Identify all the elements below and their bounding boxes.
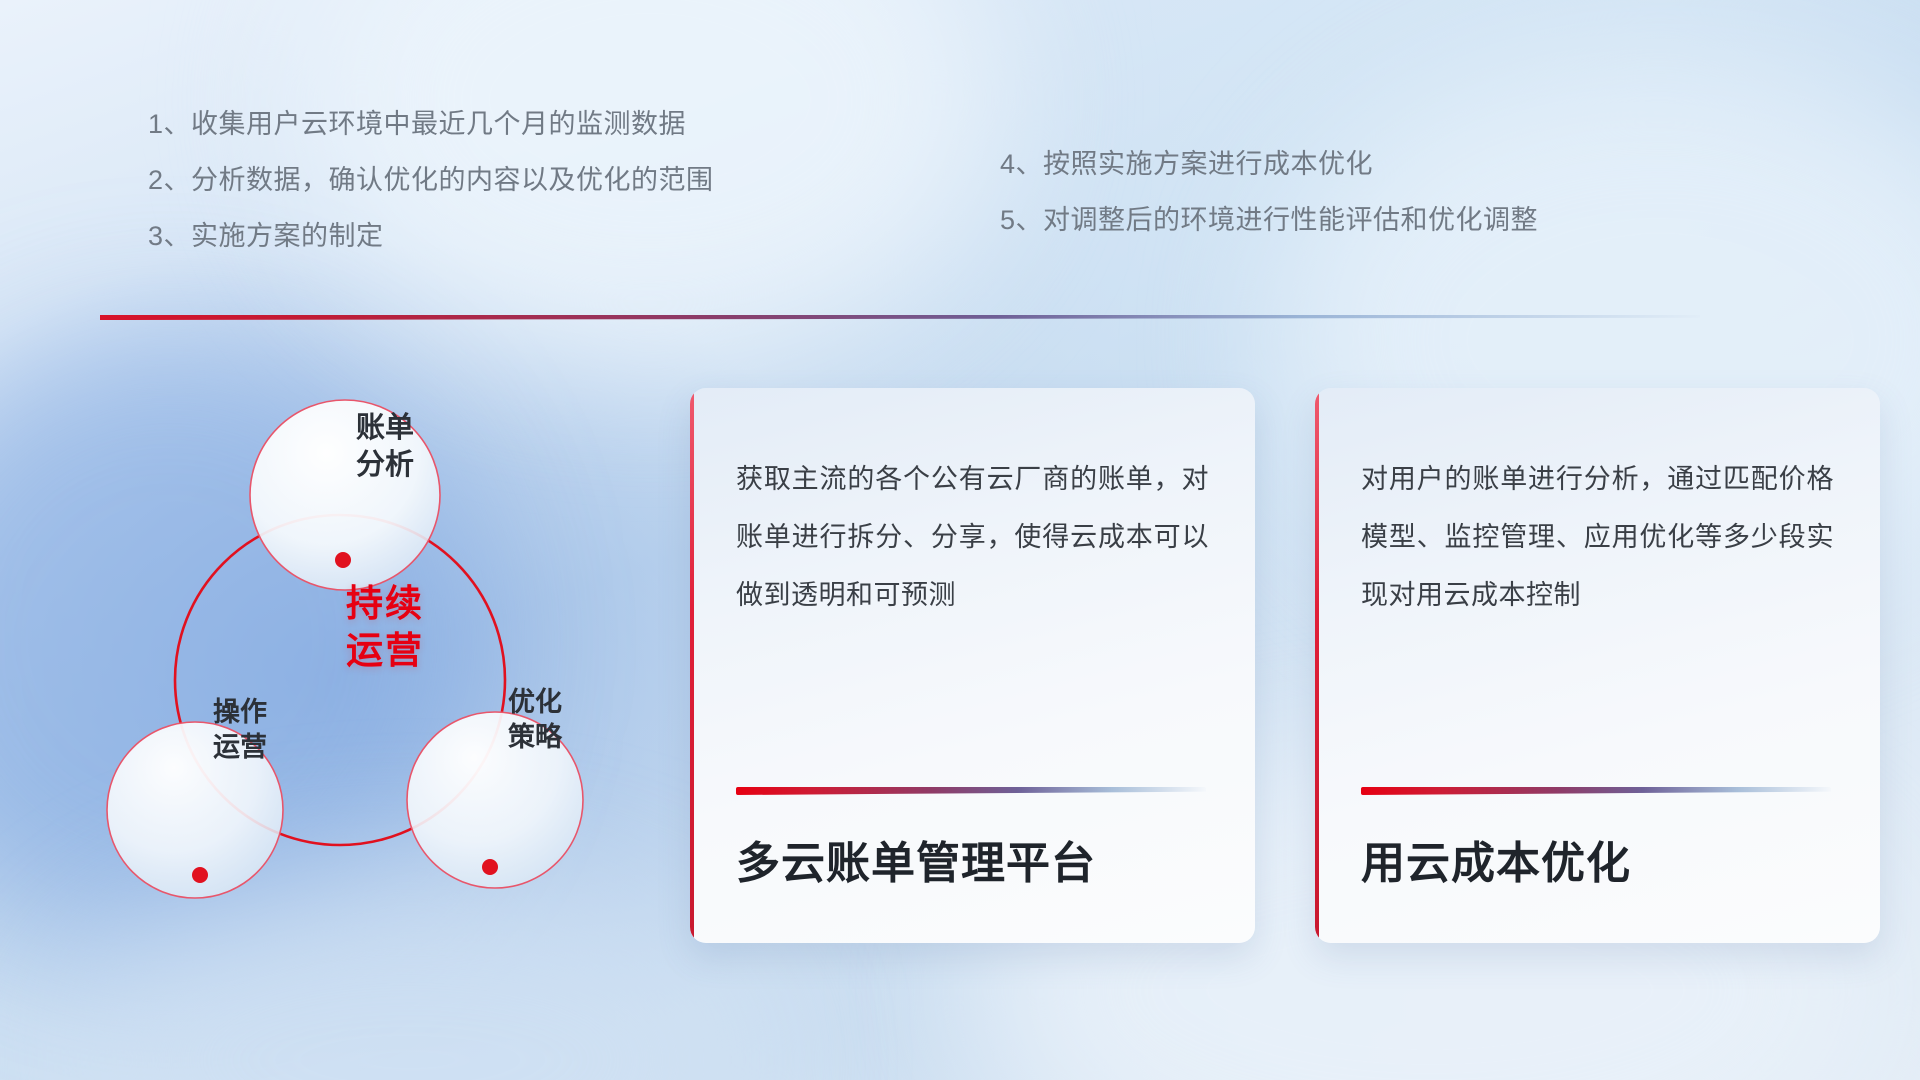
step-item-4: 4、按照实施方案进行成本优化: [1000, 136, 1538, 192]
venn-diagram: 账单 分析 操作 运营 优化 策略 持续 运营: [95, 355, 625, 955]
card-divider: [736, 787, 1206, 795]
card-body-text: 获取主流的各个公有云厂商的账单，对账单进行拆分、分享，使得云成本可以做到透明和可…: [736, 450, 1209, 624]
slide-canvas: 1、收集用户云环境中最近几个月的监测数据 2、分析数据，确认优化的内容以及优化的…: [0, 0, 1920, 1080]
venn-node-dot-bottom-left: [192, 867, 208, 883]
venn-node-dot-top: [335, 552, 351, 568]
card-divider: [1361, 787, 1831, 795]
cards-section: 获取主流的各个公有云厂商的账单，对账单进行拆分、分享，使得云成本可以做到透明和可…: [690, 388, 1880, 963]
steps-column-right: 4、按照实施方案进行成本优化 5、对调整后的环境进行性能评估和优化调整: [1000, 136, 1538, 248]
steps-section: 1、收集用户云环境中最近几个月的监测数据 2、分析数据，确认优化的内容以及优化的…: [0, 96, 1920, 266]
venn-label-center: 持续 运营: [270, 580, 500, 675]
venn-label-optimization-strategy: 优化 策略: [445, 685, 625, 754]
venn-node-dot-bottom-right: [482, 859, 498, 875]
card-multi-cloud-bill-platform[interactable]: 获取主流的各个公有云厂商的账单，对账单进行拆分、分享，使得云成本可以做到透明和可…: [690, 388, 1255, 943]
step-item-3: 3、实施方案的制定: [148, 208, 714, 264]
section-divider-rule: [100, 315, 1700, 320]
venn-label-bill-analysis: 账单 分析: [295, 410, 475, 484]
step-item-5: 5、对调整后的环境进行性能评估和优化调整: [1000, 192, 1538, 248]
card-title: 多云账单管理平台: [736, 827, 1096, 891]
card-cloud-cost-optimization[interactable]: 对用户的账单进行分析，通过匹配价格模型、监控管理、应用优化等多少段实现对用云成本…: [1315, 388, 1880, 943]
step-item-2: 2、分析数据，确认优化的内容以及优化的范围: [148, 152, 714, 208]
steps-column-left: 1、收集用户云环境中最近几个月的监测数据 2、分析数据，确认优化的内容以及优化的…: [148, 96, 714, 264]
card-body-text: 对用户的账单进行分析，通过匹配价格模型、监控管理、应用优化等多少段实现对用云成本…: [1361, 450, 1834, 624]
venn-label-operations: 操作 运营: [150, 695, 330, 764]
step-item-1: 1、收集用户云环境中最近几个月的监测数据: [148, 96, 714, 152]
card-title: 用云成本优化: [1361, 827, 1631, 891]
